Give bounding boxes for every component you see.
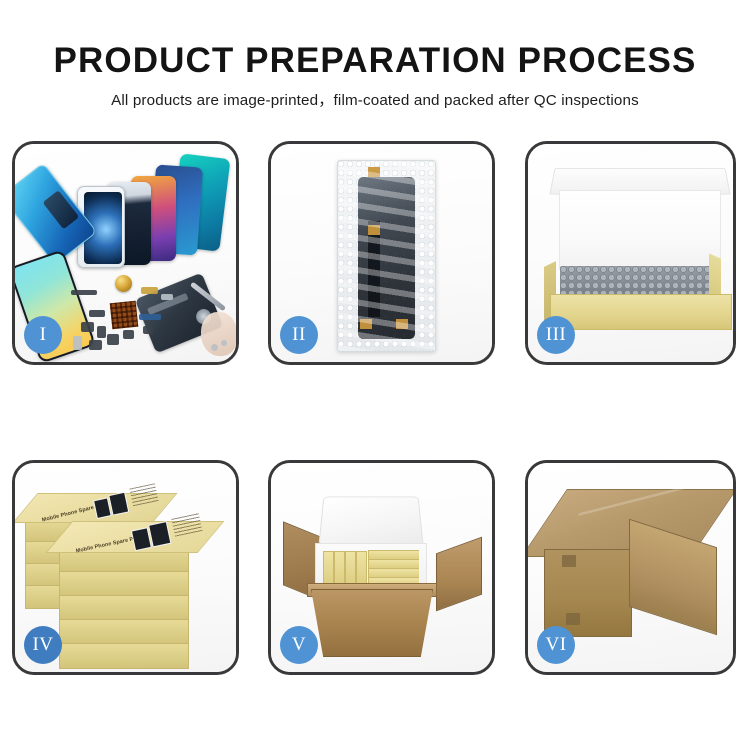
step-badge: I bbox=[24, 316, 62, 354]
stacked-box-front-2 bbox=[59, 571, 187, 595]
panel-open-inner-box: III bbox=[525, 141, 736, 365]
hand-icon bbox=[201, 312, 237, 356]
step-badge: IV bbox=[24, 626, 62, 664]
box-front-wall-icon bbox=[550, 294, 732, 330]
step-badge: V bbox=[280, 626, 318, 664]
screw-icon bbox=[211, 344, 218, 351]
panel-4-stage: Mobile Phone Spare Parts bbox=[15, 463, 236, 672]
box-side bbox=[59, 571, 189, 597]
part-camera-icon bbox=[89, 340, 102, 350]
inner-box bbox=[356, 551, 367, 583]
process-step-grid: I II III bbox=[0, 0, 750, 750]
step-badge: VI bbox=[537, 626, 575, 664]
box-side bbox=[59, 619, 189, 645]
tape-bottom-left-icon bbox=[360, 319, 372, 329]
carton-tape-upper-icon bbox=[562, 555, 576, 567]
tape-mid-icon bbox=[368, 225, 380, 235]
carton-flap-right-icon bbox=[436, 537, 482, 612]
panel-products-and-parts: I bbox=[12, 141, 239, 365]
stacked-box-front-4 bbox=[59, 619, 187, 643]
part-button-icon bbox=[123, 330, 134, 339]
box-side bbox=[59, 595, 189, 621]
panel-2-stage: II bbox=[271, 144, 492, 362]
part-pin-icon bbox=[97, 326, 106, 338]
panel-5-stage: V bbox=[271, 463, 492, 672]
label-spec-lines bbox=[171, 511, 203, 536]
panel-3-stage: III bbox=[528, 144, 733, 362]
part-chip-icon bbox=[143, 326, 153, 334]
chip-array-icon bbox=[110, 301, 139, 330]
carton-body-icon bbox=[311, 589, 433, 657]
stacked-box-front-3 bbox=[59, 595, 187, 619]
inner-box bbox=[345, 551, 356, 583]
carton-front-icon bbox=[544, 549, 632, 637]
panel-sealed-carton: VI bbox=[525, 460, 736, 675]
part-flex-small-icon bbox=[89, 310, 105, 317]
stacked-box-front-5 bbox=[59, 643, 187, 667]
label-spec-lines bbox=[129, 483, 158, 506]
tape-top-icon bbox=[368, 167, 380, 177]
part-vibrator-icon bbox=[107, 334, 119, 345]
wrapped-part-icon bbox=[358, 177, 415, 339]
bubble-padding-icon bbox=[560, 266, 718, 296]
label-phone-image-2 bbox=[148, 521, 171, 547]
part-blue-flex-icon bbox=[139, 314, 161, 320]
inner-box bbox=[334, 551, 345, 583]
tape-bottom-right-icon bbox=[396, 319, 408, 329]
bubble-wrap-bag-icon bbox=[337, 160, 436, 352]
part-bracket-icon bbox=[81, 322, 94, 332]
panel-carton-with-foam: V bbox=[268, 460, 495, 675]
panel-6-stage: VI bbox=[528, 463, 733, 672]
wrapped-flex-cable-icon bbox=[368, 221, 380, 317]
panel-stacked-boxes: Mobile Phone Spare Parts bbox=[12, 460, 239, 675]
step-badge: II bbox=[280, 316, 318, 354]
panel-bubble-wrapped: II bbox=[268, 141, 495, 365]
part-strip-icon bbox=[71, 290, 97, 295]
inner-box bbox=[323, 551, 334, 583]
label-phone-image-2 bbox=[108, 492, 129, 516]
step-badge: III bbox=[537, 316, 575, 354]
panel-1-stage: I bbox=[15, 144, 236, 362]
inner-boxes-group bbox=[323, 549, 419, 583]
screw-small-icon bbox=[221, 340, 227, 346]
foam-lid-icon bbox=[318, 497, 423, 546]
part-light-clip-icon bbox=[161, 294, 173, 300]
part-sim-tray-icon bbox=[73, 336, 82, 350]
speaker-coil-icon bbox=[115, 275, 132, 292]
part-gold-connector-icon bbox=[141, 287, 158, 294]
carton-tape-lower-icon bbox=[566, 613, 580, 625]
foam-sheet-icon bbox=[559, 190, 721, 270]
box-side bbox=[59, 643, 189, 669]
